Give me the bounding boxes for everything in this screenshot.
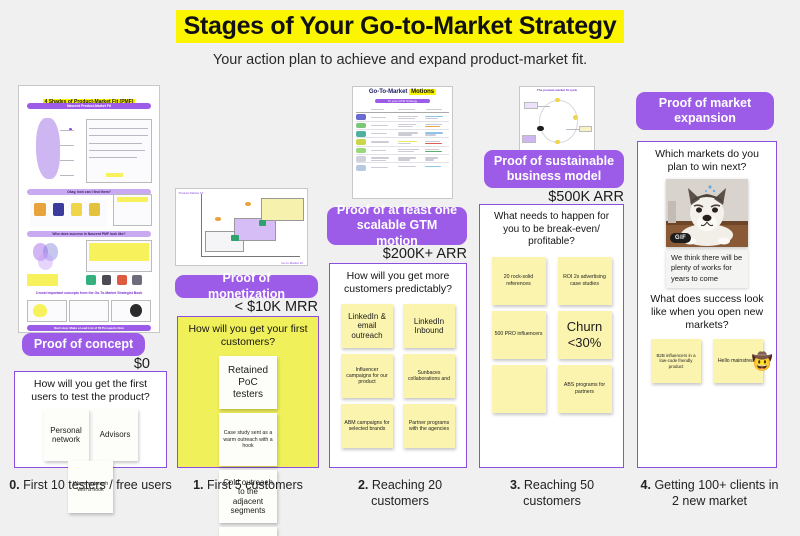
cycle-node-bottom [555,140,560,145]
gtm-row-icon [356,131,366,136]
gtm-row-desc-2 [398,159,410,160]
thumbnail-gtm-motions[interactable]: Go-To-Market Motions To your GTM Strateg… [352,86,453,199]
infographic-band-4: 3 most important concepts from the Go-To… [27,290,150,296]
gtm-row[interactable] [356,147,449,155]
cycle-connector-2 [566,129,579,130]
chart-y-axis [201,194,202,256]
sticky-note-empty[interactable] [492,365,546,413]
thumbnail-pmf-cycle[interactable]: The product-market fit cycle [519,86,595,158]
sticky-note[interactable]: Pitching a group of influencers, if need… [219,527,277,536]
stage-0-question: How will you get the first users to test… [20,378,161,404]
gtm-row-metric-2 [425,143,443,144]
chart-x-axis [201,256,301,257]
stage-1-money: < $10K MRR [190,299,318,315]
gtm-row-icon [356,148,366,153]
gif-badge: GIF [670,233,691,243]
cycle-connector-1 [538,106,550,107]
gtm-row-metric-2 [425,118,438,119]
cowboy-emoji: 🤠 [752,353,773,370]
gtm-row-desc-2 [398,151,414,152]
infographic-mini-1-shape [33,304,47,318]
infographic-leader-3 [60,160,74,161]
sticky-note[interactable]: LinkedIn & email outreach [341,304,393,348]
stage-4-question-2: What does success look like when you ope… [643,293,771,332]
infographic-card-line-1 [89,128,148,129]
gtm-title-plain: Go-To-Market [369,89,409,95]
sticky-note[interactable]: Retained PoC testers [219,356,277,409]
stage-0-caption-text: First 10 testers / free users [23,478,172,492]
stage-2-caption: 2. Reaching 20 customers [330,478,470,509]
gif-husky[interactable]: GIF [666,179,748,247]
cycle-title: The product-market fit cycle [520,88,594,92]
infographic-highlight-1 [106,173,123,177]
stage-0-pill[interactable]: Proof of concept [22,333,145,356]
gtm-row-label [371,150,386,151]
gtm-row-icon [356,114,366,119]
infographic-band-5: Next step: Make a Lead List of 50 Prospe… [27,325,150,331]
chart-marker-3 [215,217,220,221]
stage-2-money: $200K+ ARR [337,246,467,262]
chart-marker-2 [259,220,267,226]
gtm-row-icon [356,123,366,128]
gtm-row-label [371,117,386,118]
stage-2-number: 2. [358,478,368,492]
cycle-label-right [579,126,592,132]
stage-3-money: $500K ARR [494,189,624,205]
stage-0-number: 0. [9,478,19,492]
infographic-icon-3 [71,203,82,217]
sticky-note[interactable]: 500 PRO influencers [492,311,546,359]
gtm-row-metric [425,166,441,167]
stage-4-notes: B2B influencers in a low-code friendly p… [643,337,771,385]
stage-2-board: How will you get more customers predicta… [329,263,467,468]
stage-1-caption-text: First 5 customers [207,478,303,492]
page-title: Stages of Your Go-to-Market Strategy [176,10,625,43]
stage-3-caption: 3. Reaching 50 customers [487,478,617,509]
stage-0-caption: 0. First 10 testers / free users [8,478,173,494]
infographic-highlight-3 [27,274,58,286]
stage-1-number: 1. [193,478,203,492]
infographic-icon-2 [53,203,64,217]
sticky-note[interactable]: LinkedIn Inbound [403,304,455,348]
infographic-chip-2 [102,275,112,285]
gtm-row-icon [356,165,366,171]
page-title-wrap: Stages of Your Go-to-Market Strategy [0,10,800,43]
stage-2-caption-text: Reaching 20 customers [371,478,442,508]
stage-3-notes: 20 rock-solid references ROI 2x advertis… [485,254,618,416]
gtm-row-metric-2 [425,134,436,135]
stage-1-notes: Retained PoC testers Case study sent as … [183,354,313,536]
infographic-highlight-2 [89,243,149,260]
thumbnail-quadrant-chart[interactable]: Product-Market Fit Go-to-Market Fit [175,188,308,266]
chart-marker-4 [245,202,250,206]
sticky-note[interactable]: Churn <30% [558,311,612,359]
sticky-note[interactable]: ROI 2x advertising case studies [558,257,612,305]
sticky-note[interactable]: Partner programs with the agencies [403,404,455,448]
stage-2-question: How will you get more customers predicta… [335,270,461,296]
gtm-row-desc-2 [398,126,413,127]
chart-marker-1 [231,235,239,241]
sticky-note[interactable]: B2B influencers in a low-code friendly p… [651,339,701,383]
gtm-row-metric [425,141,440,142]
gtm-subtitle: To your GTM Strategy [375,99,430,103]
gif-caption: We think there will be plenty of works f… [666,249,748,287]
gtm-row-metric-2 [425,151,442,152]
sticky-note[interactable]: ABM campaigns for selected brands [341,404,393,448]
chart-x-axis-label: Go-to-Market Fit [281,261,303,265]
infographic-leader-2 [60,145,74,146]
gtm-row[interactable] [356,130,449,138]
stage-4-number: 4. [641,478,651,492]
infographic-body: 4 Shades of Product-Market Fit (PMF) Nas… [19,86,159,332]
gtm-row-icon [356,139,366,144]
cycle-label-topleft [524,102,537,108]
infographic-venn-c [38,253,53,270]
gtm-row-desc [398,166,416,167]
gtm-row[interactable] [356,139,449,147]
gtm-row[interactable] [356,155,449,163]
gtm-row-metric-2 [425,126,440,127]
stage-0-money: $0 [60,356,150,372]
infographic-icon-1 [34,203,45,217]
gtm-row-label [371,141,389,142]
stage-4-question: Which markets do you plan to win next? [643,148,771,174]
infographic-chip-1 [86,275,96,285]
gtm-row-label [371,157,390,158]
gtm-row-desc [398,116,418,117]
infographic-band-1: Nascent Product-Market Fit [27,103,150,109]
gtm-col-2 [398,109,415,110]
stage-3-caption-text: Reaching 50 customers [523,478,594,508]
infographic-card-line-4 [89,150,145,151]
gtm-row-desc-2 [398,118,415,119]
infographic-card-line-2 [89,135,148,136]
stage-1-board: How will you get your first customers? R… [177,316,319,468]
stage-0-notes: Personal network Advisors Warm outreach … [20,409,161,513]
whiteboard-canvas: Stages of Your Go-to-Market Strategy You… [0,0,800,536]
gtm-row-label [371,133,387,134]
sticky-note[interactable]: Advisors [93,409,138,461]
stage-3-pill[interactable]: Proof of sustainable business model [484,150,624,188]
gtm-row-desc-2 [398,143,411,144]
stage-2-pill[interactable]: Proof of at least one scalable GTM motio… [327,207,467,245]
stage-1-question: How will you get your first customers? [183,323,313,349]
gtm-row-label-2 [371,160,386,161]
gtm-row[interactable] [356,114,449,122]
gtm-row-desc-2 [398,134,412,135]
chart-box-scale [234,218,276,241]
infographic-card-line-3 [89,143,142,144]
stage-3-board: What needs to happen for you to be break… [479,204,624,468]
gtm-row-desc [398,141,418,142]
chart-y-axis-label: Product-Market Fit [179,191,204,195]
stage-2-notes: LinkedIn & email outreach LinkedIn Inbou… [335,301,461,451]
stage-4-pill[interactable]: Proof of market expansion [636,92,774,130]
infographic-icon-4 [89,203,100,217]
gtm-title-highlight: Motions [409,89,436,95]
gtm-col-1 [371,109,384,110]
gtm-header-row [356,106,449,113]
thumbnail-4-shades-pmf[interactable]: 4 Shades of Product-Market Fit (PMF) Nas… [18,85,160,333]
stage-1-pill[interactable]: Proof of monetization [175,275,318,298]
gtm-row-metric-2 [425,159,434,160]
sticky-note[interactable]: Personal network [44,409,89,461]
gtm-row-metric [425,116,444,117]
infographic-chip-3 [117,275,127,285]
infographic-band-3: Who does success in Nascent PMF look lik… [27,231,150,237]
infographic-mini-2 [69,300,108,322]
stage-1-caption: 1. First 5 customers [173,478,323,494]
gtm-row-label [371,167,388,168]
infographic-leader-1 [60,130,74,131]
stage-3-question: What needs to happen for you to be break… [485,211,618,249]
sticky-note[interactable]: 20 rock-solid references [492,257,546,305]
stage-4-board: Which markets do you plan to win next? [637,141,777,468]
gtm-row[interactable] [356,122,449,130]
infographic-card-line-5 [89,157,137,158]
stage-4-caption: 4. Getting 100+ clients in 2 new market [637,478,782,509]
infographic-leader-4 [60,175,74,176]
cycle-node-left [537,126,544,132]
sticky-note[interactable]: Sunbaces collaborations and [403,354,455,398]
gtm-row-label [371,125,388,126]
gtm-col-3 [426,109,443,110]
infographic-blob [36,118,60,180]
stage-0-board: How will you get the first users to test… [14,371,167,468]
cycle-label-left [522,135,535,143]
gtm-row-icon [356,156,366,161]
gtm-row[interactable] [356,164,449,172]
sticky-note[interactable]: Influencer campaigns for our product [341,354,393,398]
page-subtitle: Your action plan to achieve and expand p… [0,52,800,68]
stage-4-caption-text: Getting 100+ clients in 2 new market [654,478,778,508]
infographic-map-title [117,197,148,202]
infographic-chip-4 [132,275,142,285]
stage-3-number: 3. [510,478,520,492]
sticky-note[interactable]: Case study sent as a warm outreach with … [219,413,277,466]
sticky-note[interactable]: ABS programs for partners [558,365,612,413]
chart-box-expansion [261,198,304,221]
